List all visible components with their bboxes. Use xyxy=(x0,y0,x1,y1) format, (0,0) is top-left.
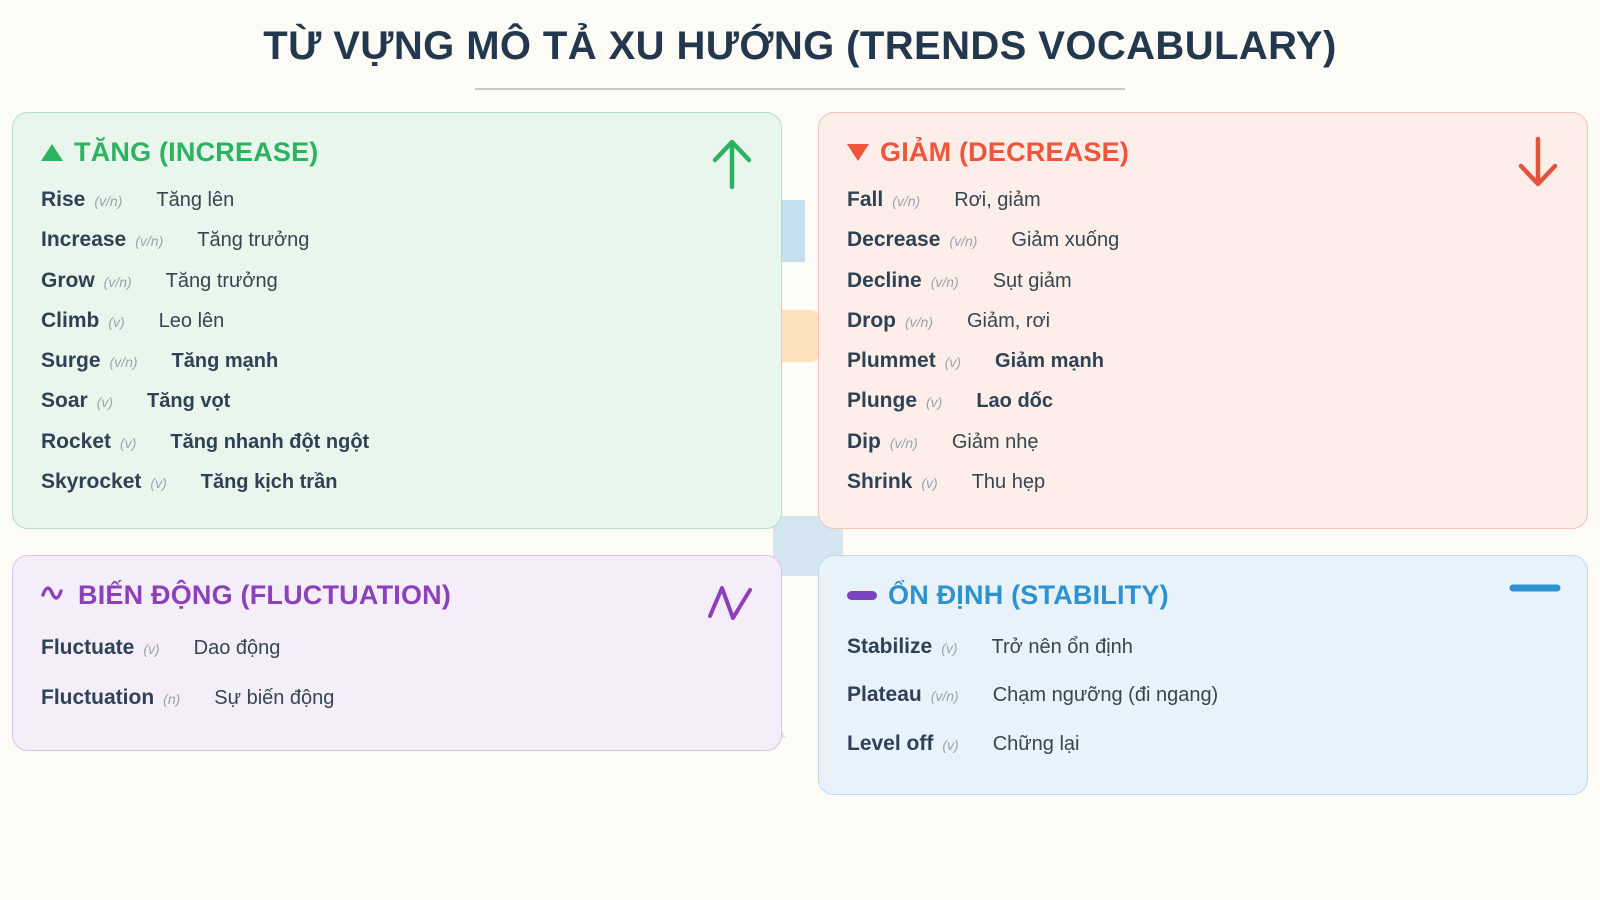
vocab-pos: (v/n) xyxy=(931,274,959,292)
vocab-term: Soar xyxy=(41,388,88,414)
vocab-meaning: Tăng nhanh đột ngột xyxy=(170,430,369,455)
page-header: TỪ VỰNG MÔ TẢ XU HƯỚNG (TRENDS VOCABULAR… xyxy=(0,0,1600,90)
vocab-meaning: Sự biến động xyxy=(214,686,334,711)
vocab-meaning: Tăng vọt xyxy=(147,389,230,414)
vocab-row: Fall (v/n) Rơi, giảm xyxy=(847,180,1559,220)
panel-fluctuation: BIẾN ĐỘNG (FLUCTUATION) Fluctuate (v) Da… xyxy=(12,555,782,751)
arrow-down-icon xyxy=(1515,135,1561,196)
panel-fluctuation-header: BIẾN ĐỘNG (FLUCTUATION) xyxy=(41,580,753,611)
vocab-term: Drop xyxy=(847,308,896,334)
vocab-meaning: Tăng trưởng xyxy=(197,228,309,253)
vocab-pos: (v) xyxy=(150,475,166,493)
panel-decrease-title: GIẢM (DECREASE) xyxy=(880,137,1129,168)
vocab-row: Soar (v) Tăng vọt xyxy=(41,381,753,421)
title-divider xyxy=(475,88,1125,90)
vocab-meaning: Tăng trưởng xyxy=(166,269,278,294)
vocab-term: Decline xyxy=(847,268,922,294)
vocab-row: Plunge (v) Lao dốc xyxy=(847,381,1559,421)
vocab-term: Decrease xyxy=(847,227,940,253)
wave-icon xyxy=(41,584,67,607)
vocabulary-grid: TĂNG (INCREASE) Rise (v/n) Tăng lên Incr… xyxy=(0,112,1600,795)
vocab-row: Rocket (v) Tăng nhanh đột ngột xyxy=(41,422,753,462)
vocab-row: Fluctuation (n) Sự biến động xyxy=(41,673,753,723)
vocab-pos: (v) xyxy=(926,394,942,412)
vocab-pos: (v) xyxy=(143,641,159,659)
vocab-pos: (v/n) xyxy=(890,435,918,453)
panel-decrease: GIẢM (DECREASE) Fall (v/n) Rơi, giảm Dec… xyxy=(818,112,1588,529)
panel-stability-header: ỔN ĐỊNH (STABILITY) xyxy=(847,580,1559,611)
vocab-row: Plateau (v/n) Chạm ngưỡng (đi ngang) xyxy=(847,671,1559,719)
triangle-up-icon xyxy=(41,144,63,161)
vocab-pos: (v/n) xyxy=(94,193,122,211)
vocab-pos: (v/n) xyxy=(135,233,163,251)
vocab-term: Fluctuate xyxy=(41,635,134,661)
panel-increase-header: TĂNG (INCREASE) xyxy=(41,137,753,168)
vocab-pos: (v/n) xyxy=(892,193,920,211)
panel-decrease-header: GIẢM (DECREASE) xyxy=(847,137,1559,168)
vocab-pos: (v/n) xyxy=(949,233,977,251)
vocab-term: Increase xyxy=(41,227,126,253)
vocab-term: Fluctuation xyxy=(41,685,154,711)
vocab-row: Decrease (v/n) Giảm xuống xyxy=(847,220,1559,260)
vocab-meaning: Giảm, rơi xyxy=(967,309,1050,334)
vocab-meaning: Tăng kịch trần xyxy=(201,470,338,495)
panel-increase-title: TĂNG (INCREASE) xyxy=(74,137,319,168)
vocab-meaning: Thu hẹp xyxy=(972,470,1045,495)
vocab-pos: (v/n) xyxy=(104,274,132,292)
vocab-term: Plunge xyxy=(847,388,917,414)
vocab-meaning: Leo lên xyxy=(159,309,225,334)
vocab-row: Rise (v/n) Tăng lên xyxy=(41,180,753,220)
vocab-pos: (v) xyxy=(945,354,961,372)
vocab-meaning: Lao dốc xyxy=(976,389,1053,414)
vocab-pos: (n) xyxy=(163,691,180,709)
vocab-pos: (v/n) xyxy=(110,354,138,372)
vocab-term: Stabilize xyxy=(847,634,932,660)
vocab-row: Increase (v/n) Tăng trưởng xyxy=(41,220,753,260)
page-title: TỪ VỰNG MÔ TẢ XU HƯỚNG (TRENDS VOCABULAR… xyxy=(0,20,1600,72)
vocab-term: Grow xyxy=(41,268,95,294)
vocab-term: Rise xyxy=(41,187,85,213)
vocab-term: Skyrocket xyxy=(41,469,141,495)
vocab-row: Fluctuate (v) Dao động xyxy=(41,623,753,673)
vocab-row: Level off (v) Chững lại xyxy=(847,720,1559,768)
panel-stability: ỔN ĐỊNH (STABILITY) Stabilize (v) Trở nê… xyxy=(818,555,1588,795)
vocab-row: Stabilize (v) Trở nên ổn định xyxy=(847,623,1559,671)
vocab-meaning: Dao động xyxy=(194,636,281,661)
vocab-pos: (v) xyxy=(97,394,113,412)
vocab-meaning: Giảm mạnh xyxy=(995,349,1104,374)
vocab-meaning: Chạm ngưỡng (đi ngang) xyxy=(993,683,1219,708)
vocab-term: Level off xyxy=(847,731,933,757)
panel-fluctuation-title: BIẾN ĐỘNG (FLUCTUATION) xyxy=(78,580,451,611)
vocab-row: Decline (v/n) Sụt giảm xyxy=(847,261,1559,301)
infographic-page: PREP TỪ VỰNG MÔ TẢ XU HƯỚNG (TRENDS VOCA… xyxy=(0,0,1600,900)
panel-stability-title: ỔN ĐỊNH (STABILITY) xyxy=(888,580,1169,611)
vocab-term: Rocket xyxy=(41,429,111,455)
vocab-meaning: Sụt giảm xyxy=(993,269,1072,294)
vocab-meaning: Tăng lên xyxy=(156,188,234,213)
vocab-pos: (v/n) xyxy=(905,314,933,332)
vocab-pos: (v) xyxy=(108,314,124,332)
vocab-term: Dip xyxy=(847,429,881,455)
vocab-term: Plateau xyxy=(847,682,922,708)
vocab-term: Shrink xyxy=(847,469,912,495)
vocab-meaning: Giảm xuống xyxy=(1011,228,1119,253)
zigzag-icon xyxy=(705,578,755,633)
vocab-term: Plummet xyxy=(847,348,936,374)
panel-increase: TĂNG (INCREASE) Rise (v/n) Tăng lên Incr… xyxy=(12,112,782,529)
vocab-row: Skyrocket (v) Tăng kịch trần xyxy=(41,462,753,502)
vocab-pos: (v) xyxy=(942,737,958,755)
vocab-row: Dip (v/n) Giảm nhẹ xyxy=(847,422,1559,462)
vocab-pos: (v) xyxy=(921,475,937,493)
vocab-meaning: Giảm nhẹ xyxy=(952,430,1039,455)
vocab-pos: (v/n) xyxy=(931,688,959,706)
arrow-up-icon xyxy=(709,135,755,196)
vocab-row: Grow (v/n) Tăng trưởng xyxy=(41,261,753,301)
vocab-row: Drop (v/n) Giảm, rơi xyxy=(847,301,1559,341)
vocab-term: Climb xyxy=(41,308,99,334)
vocab-row: Shrink (v) Thu hẹp xyxy=(847,462,1559,502)
vocab-row: Surge (v/n) Tăng mạnh xyxy=(41,341,753,381)
vocab-meaning: Trở nên ổn định xyxy=(992,635,1133,660)
vocab-pos: (v) xyxy=(941,640,957,658)
vocab-pos: (v) xyxy=(120,435,136,453)
dash-icon xyxy=(847,591,877,600)
vocab-row: Climb (v) Leo lên xyxy=(41,301,753,341)
vocab-term: Surge xyxy=(41,348,101,374)
vocab-meaning: Tăng mạnh xyxy=(172,349,279,374)
vocab-term: Fall xyxy=(847,187,883,213)
triangle-down-icon xyxy=(847,144,869,161)
vocab-meaning: Rơi, giảm xyxy=(954,188,1040,213)
vocab-meaning: Chững lại xyxy=(993,732,1080,757)
vocab-row: Plummet (v) Giảm mạnh xyxy=(847,341,1559,381)
horizontal-line-icon xyxy=(1509,578,1561,603)
